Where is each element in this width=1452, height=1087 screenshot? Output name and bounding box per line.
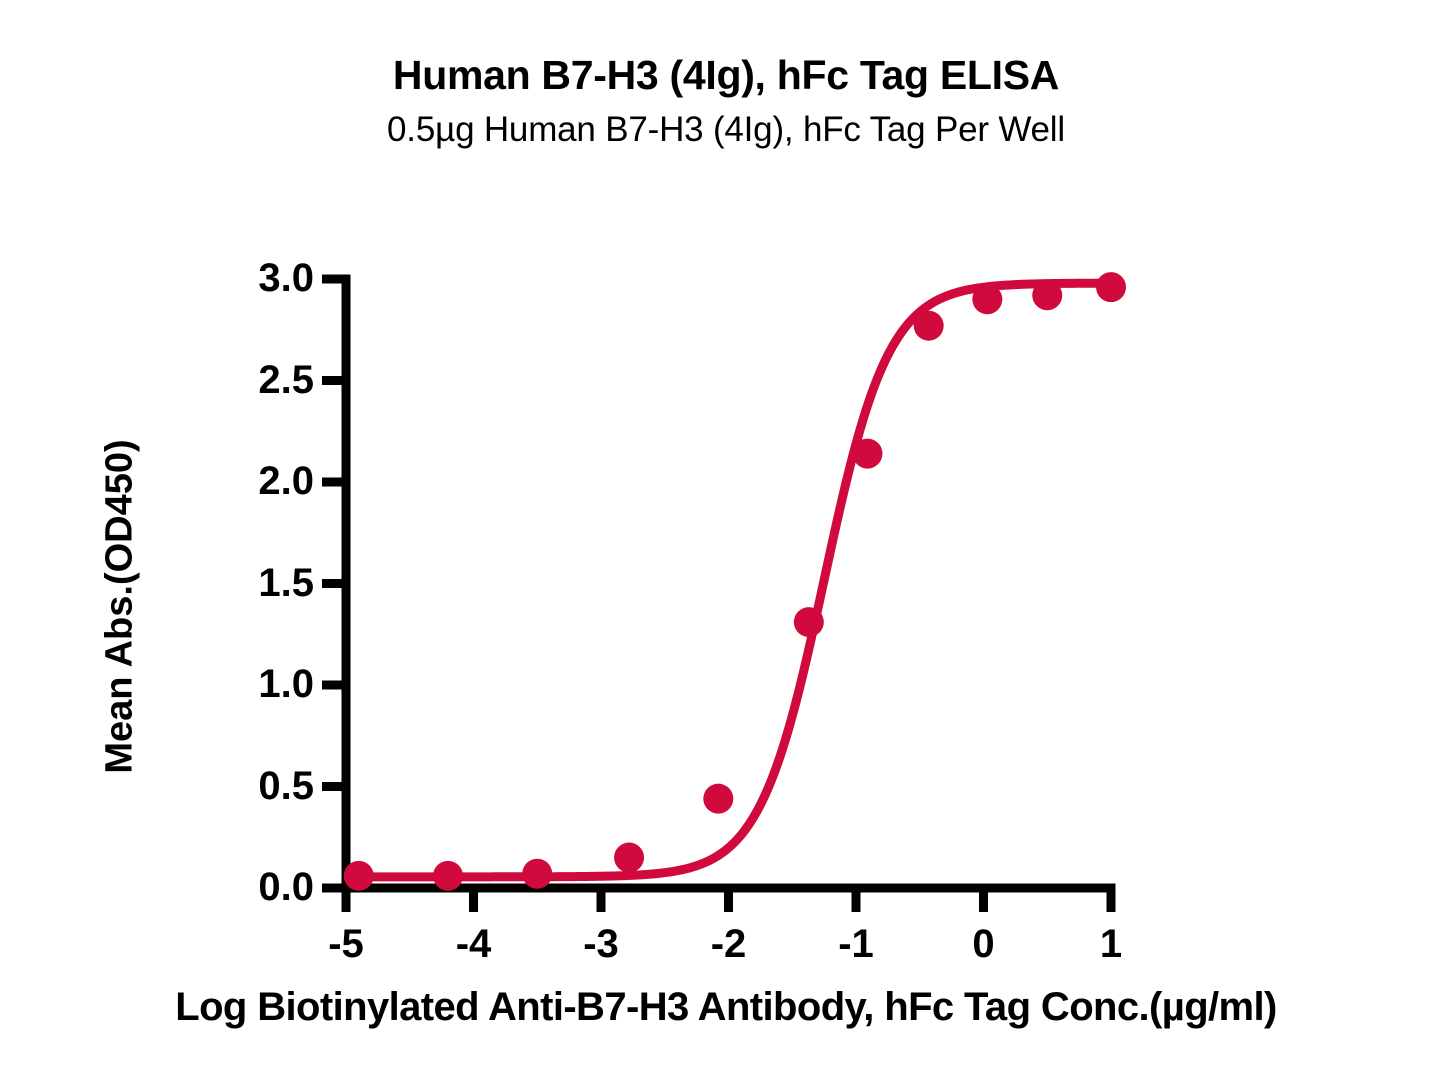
x-axis-tick-label: -1	[816, 924, 896, 964]
fit-curve	[359, 283, 1111, 877]
x-axis-tick-label: -2	[689, 924, 769, 964]
data-point	[433, 861, 463, 891]
data-point	[852, 439, 882, 469]
data-point	[914, 311, 944, 341]
data-point	[1096, 272, 1126, 302]
y-axis-title: Mean Abs.(OD450)	[99, 387, 142, 827]
data-point	[972, 284, 1002, 314]
plot-area: Mean Abs.(OD450) Log Biotinylated Anti-B…	[0, 0, 1452, 1087]
data-point	[1032, 280, 1062, 310]
data-point	[794, 607, 824, 637]
data-point	[522, 859, 552, 889]
x-axis-tick-label: 0	[944, 924, 1024, 964]
y-axis-tick-label: 1.5	[204, 563, 314, 603]
elisa-chart-page: Human B7-H3 (4Ig), hFc Tag ELISA 0.5µg H…	[0, 0, 1452, 1087]
y-axis-tick-label: 2.0	[204, 461, 314, 501]
data-point-markers	[344, 272, 1126, 891]
y-axis-tick-label: 3.0	[204, 258, 314, 298]
y-axis-tick-label: 0.0	[204, 867, 314, 907]
x-axis-tick-label: -5	[306, 924, 386, 964]
x-axis-tick-label: -3	[561, 924, 641, 964]
x-axis-title: Log Biotinylated Anti-B7-H3 Antibody, hF…	[0, 985, 1452, 1030]
data-point	[703, 784, 733, 814]
y-axis-tick-label: 2.5	[204, 360, 314, 400]
y-axis-tick-label: 1.0	[204, 664, 314, 704]
x-axis-tick-label: -4	[434, 924, 514, 964]
y-axis-tick-label: 0.5	[204, 766, 314, 806]
x-axis-tick-label: 1	[1071, 924, 1151, 964]
data-point	[344, 861, 374, 891]
data-point	[614, 843, 644, 873]
